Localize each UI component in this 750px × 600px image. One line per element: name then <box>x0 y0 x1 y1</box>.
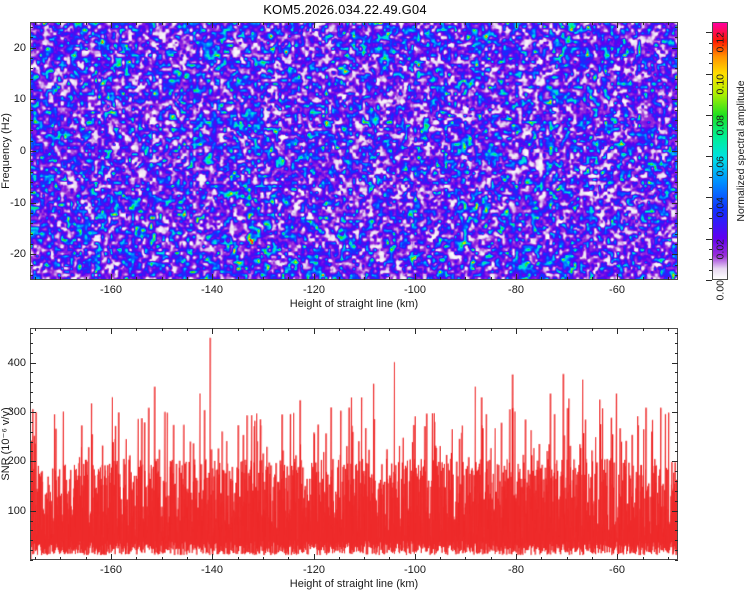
x-tick-minor <box>668 277 669 280</box>
x-tick-minor <box>35 277 36 280</box>
y-tick-major <box>30 363 36 364</box>
y-tick-minor-right <box>675 265 678 266</box>
spectrogram-x-axis-label: Height of straight line (km) <box>290 298 418 310</box>
x-tick-major-top <box>212 328 213 334</box>
x-tick-minor-top <box>339 328 340 331</box>
y-tick-minor <box>30 244 33 245</box>
x-tick-major <box>212 274 213 280</box>
y-tick-major-right <box>672 203 678 204</box>
y-tick-minor <box>30 540 33 541</box>
x-tick-minor <box>567 277 568 280</box>
x-tick-minor-top <box>567 328 568 331</box>
x-tick-minor <box>60 277 61 280</box>
y-tick-minor-right <box>675 343 678 344</box>
x-tick-minor-top <box>491 22 492 25</box>
y-tick-major-right <box>672 151 678 152</box>
x-tick-minor-top <box>465 328 466 331</box>
y-tick-minor <box>30 234 33 235</box>
x-tick-major-top <box>516 328 517 334</box>
colorbar-tick-major <box>706 156 712 157</box>
x-tick-minor-top <box>643 328 644 331</box>
y-tick-minor-right <box>675 540 678 541</box>
x-tick-major <box>415 274 416 280</box>
y-tick-minor <box>30 530 33 531</box>
y-tick-minor <box>30 392 33 393</box>
y-tick-minor <box>30 192 33 193</box>
y-tick-minor-right <box>675 182 678 183</box>
y-tick-minor-right <box>675 422 678 423</box>
x-tick-minor-top <box>541 22 542 25</box>
x-tick-minor <box>592 277 593 280</box>
y-tick-minor-right <box>675 530 678 531</box>
x-tick-minor <box>465 557 466 560</box>
colorbar-tick-label: 0.06 <box>714 156 726 176</box>
y-tick-minor-right <box>675 234 678 235</box>
x-tick-major <box>617 274 618 280</box>
y-tick-major <box>30 203 36 204</box>
x-tick-minor <box>364 277 365 280</box>
y-tick-minor <box>30 265 33 266</box>
colorbar-tick-major <box>706 32 712 33</box>
y-tick-minor-right <box>675 333 678 334</box>
y-tick-label: 20 <box>4 42 26 54</box>
colorbar-tick-minor <box>709 166 712 167</box>
y-tick-minor-right <box>675 120 678 121</box>
x-tick-minor <box>541 557 542 560</box>
colorbar-tick-minor <box>709 208 712 209</box>
y-tick-minor <box>30 521 33 522</box>
colorbar-tick-label: 0.12 <box>714 32 726 52</box>
x-tick-minor <box>60 557 61 560</box>
y-tick-minor-right <box>675 244 678 245</box>
x-tick-major <box>516 274 517 280</box>
y-tick-major-right <box>672 363 678 364</box>
y-tick-minor-right <box>675 451 678 452</box>
x-tick-label: -120 <box>303 284 325 296</box>
x-tick-minor <box>339 277 340 280</box>
colorbar-tick-minor <box>709 228 712 229</box>
x-tick-major-top <box>314 328 315 334</box>
y-tick-minor-right <box>675 172 678 173</box>
y-tick-minor-right <box>675 560 678 561</box>
x-tick-minor <box>238 277 239 280</box>
snr-y-axis-label: SNR (10⁻⁶ v/v) <box>0 407 12 480</box>
x-tick-minor <box>440 277 441 280</box>
y-tick-minor <box>30 68 33 69</box>
y-tick-label: 10 <box>4 93 26 105</box>
x-tick-minor <box>440 557 441 560</box>
x-tick-label: -140 <box>201 564 223 576</box>
x-tick-minor-top <box>339 22 340 25</box>
colorbar-tick-minor <box>709 187 712 188</box>
x-tick-minor-top <box>35 328 36 331</box>
y-tick-major <box>30 461 36 462</box>
y-tick-major <box>30 151 36 152</box>
x-tick-minor-top <box>592 328 593 331</box>
y-tick-major-right <box>672 511 678 512</box>
x-tick-label: -80 <box>508 284 524 296</box>
x-tick-major-top <box>212 22 213 28</box>
y-tick-minor <box>30 550 33 551</box>
y-tick-minor-right <box>675 382 678 383</box>
x-tick-minor <box>491 557 492 560</box>
y-tick-minor-right <box>675 58 678 59</box>
x-tick-minor <box>643 557 644 560</box>
x-tick-minor <box>592 557 593 560</box>
y-tick-minor <box>30 161 33 162</box>
y-tick-minor <box>30 422 33 423</box>
y-tick-minor-right <box>675 442 678 443</box>
x-tick-label: -60 <box>609 564 625 576</box>
x-tick-minor-top <box>86 328 87 331</box>
y-tick-minor <box>30 213 33 214</box>
x-tick-minor-top <box>238 22 239 25</box>
x-tick-major-top <box>415 328 416 334</box>
y-tick-minor <box>30 491 33 492</box>
x-tick-minor-top <box>263 328 264 331</box>
x-tick-minor <box>465 277 466 280</box>
y-tick-label: 0 <box>4 145 26 157</box>
y-tick-minor-right <box>675 89 678 90</box>
y-tick-minor-right <box>675 161 678 162</box>
y-tick-minor-right <box>675 110 678 111</box>
colorbar-tick-minor <box>709 125 712 126</box>
y-tick-minor <box>30 37 33 38</box>
y-tick-major-right <box>672 461 678 462</box>
y-tick-minor-right <box>675 471 678 472</box>
x-tick-major <box>111 554 112 560</box>
colorbar-tick-minor <box>709 63 712 64</box>
x-tick-minor <box>389 277 390 280</box>
x-tick-major <box>314 274 315 280</box>
x-tick-minor <box>364 557 365 560</box>
y-tick-minor-right <box>675 130 678 131</box>
y-tick-minor-right <box>675 432 678 433</box>
x-tick-minor <box>263 557 264 560</box>
colorbar-tick-major <box>706 239 712 240</box>
y-tick-minor-right <box>675 27 678 28</box>
x-tick-minor-top <box>35 22 36 25</box>
x-tick-minor-top <box>592 22 593 25</box>
y-tick-minor <box>30 353 33 354</box>
y-tick-minor <box>30 481 33 482</box>
x-tick-minor <box>187 277 188 280</box>
x-tick-minor-top <box>668 328 669 331</box>
x-tick-minor-top <box>187 328 188 331</box>
y-tick-major-right <box>672 254 678 255</box>
colorbar-tick-minor <box>709 94 712 95</box>
y-tick-minor-right <box>675 37 678 38</box>
y-tick-minor-right <box>675 79 678 80</box>
y-tick-label: -20 <box>4 248 26 260</box>
colorbar-tick-label: 0.10 <box>714 74 726 94</box>
x-tick-minor-top <box>440 328 441 331</box>
colorbar-tick-minor <box>709 249 712 250</box>
x-tick-major-top <box>415 22 416 28</box>
x-tick-minor-top <box>162 328 163 331</box>
y-tick-minor-right <box>675 372 678 373</box>
colorbar-tick-label: 0.02 <box>714 239 726 259</box>
y-tick-minor <box>30 333 33 334</box>
page-title: KOM5.2026.034.22.49.G04 <box>0 2 690 17</box>
y-tick-major-right <box>672 99 678 100</box>
colorbar-tick-minor <box>709 218 712 219</box>
x-tick-minor <box>668 557 669 560</box>
x-tick-label: -160 <box>100 284 122 296</box>
x-tick-minor-top <box>491 328 492 331</box>
colorbar-tick-minor <box>709 53 712 54</box>
y-tick-minor <box>30 275 33 276</box>
x-tick-minor-top <box>389 22 390 25</box>
x-tick-minor-top <box>86 22 87 25</box>
x-tick-minor-top <box>643 22 644 25</box>
x-tick-minor-top <box>465 22 466 25</box>
y-tick-minor <box>30 130 33 131</box>
x-tick-minor-top <box>288 328 289 331</box>
colorbar-tick-major <box>706 197 712 198</box>
x-tick-minor <box>136 277 137 280</box>
y-tick-minor-right <box>675 491 678 492</box>
x-tick-minor <box>541 277 542 280</box>
y-tick-minor <box>30 501 33 502</box>
x-tick-minor <box>162 557 163 560</box>
x-tick-label: -80 <box>508 564 524 576</box>
y-tick-major <box>30 48 36 49</box>
x-tick-minor <box>567 557 568 560</box>
x-tick-major-top <box>314 22 315 28</box>
colorbar-tick-minor <box>709 177 712 178</box>
colorbar-tick-major <box>706 115 712 116</box>
y-tick-minor-right <box>675 275 678 276</box>
y-tick-major <box>30 511 36 512</box>
x-tick-major <box>516 554 517 560</box>
x-tick-major <box>617 554 618 560</box>
colorbar-tick-minor <box>709 259 712 260</box>
x-tick-minor <box>187 557 188 560</box>
colorbar-tick-minor <box>709 270 712 271</box>
y-tick-label: 400 <box>4 357 26 369</box>
colorbar-tick-minor <box>709 43 712 44</box>
snr-x-axis-label: Height of straight line (km) <box>290 578 418 590</box>
x-tick-minor-top <box>136 328 137 331</box>
y-tick-label: 200 <box>4 455 26 467</box>
colorbar-axis-label: Normalized spectral amplitude <box>735 80 747 221</box>
x-tick-major <box>111 274 112 280</box>
y-tick-minor <box>30 560 33 561</box>
x-tick-minor <box>86 277 87 280</box>
x-tick-minor-top <box>541 328 542 331</box>
y-tick-minor <box>30 343 33 344</box>
y-tick-major <box>30 412 36 413</box>
x-tick-major-top <box>111 22 112 28</box>
x-tick-minor-top <box>136 22 137 25</box>
x-tick-minor <box>238 557 239 560</box>
x-tick-minor-top <box>263 22 264 25</box>
colorbar-tick-label: 0.08 <box>714 115 726 135</box>
y-tick-minor-right <box>675 223 678 224</box>
colorbar-tick-minor <box>709 146 712 147</box>
x-tick-minor-top <box>364 328 365 331</box>
x-tick-minor <box>263 277 264 280</box>
y-tick-minor <box>30 471 33 472</box>
y-tick-minor <box>30 223 33 224</box>
colorbar-tick-major <box>706 74 712 75</box>
x-tick-minor-top <box>389 328 390 331</box>
colorbar-tick-label: 0.04 <box>714 197 726 217</box>
y-tick-major <box>30 254 36 255</box>
snr-trace <box>31 329 677 559</box>
colorbar-tick-minor <box>709 105 712 106</box>
y-tick-minor <box>30 58 33 59</box>
y-tick-minor-right <box>675 192 678 193</box>
x-tick-major <box>212 554 213 560</box>
colorbar-tick-major <box>706 280 712 281</box>
x-tick-major-top <box>516 22 517 28</box>
y-tick-minor-right <box>675 550 678 551</box>
y-tick-minor <box>30 89 33 90</box>
y-tick-minor <box>30 27 33 28</box>
x-tick-minor <box>288 557 289 560</box>
y-tick-minor-right <box>675 521 678 522</box>
x-tick-minor-top <box>364 22 365 25</box>
x-tick-minor-top <box>440 22 441 25</box>
x-tick-minor-top <box>60 22 61 25</box>
x-tick-major <box>415 554 416 560</box>
y-tick-minor-right <box>675 402 678 403</box>
y-tick-minor <box>30 372 33 373</box>
y-tick-minor-right <box>675 501 678 502</box>
x-tick-minor <box>288 277 289 280</box>
x-tick-minor <box>35 557 36 560</box>
y-tick-minor <box>30 432 33 433</box>
spectrogram-image <box>31 23 677 279</box>
x-tick-label: -100 <box>404 284 426 296</box>
x-tick-minor <box>162 277 163 280</box>
x-tick-major-top <box>111 328 112 334</box>
y-tick-major-right <box>672 412 678 413</box>
y-tick-minor <box>30 141 33 142</box>
y-tick-minor-right <box>675 353 678 354</box>
x-tick-minor <box>86 557 87 560</box>
y-tick-minor <box>30 110 33 111</box>
x-tick-minor-top <box>238 328 239 331</box>
x-tick-minor-top <box>288 22 289 25</box>
x-tick-major-top <box>617 328 618 334</box>
y-tick-minor-right <box>675 481 678 482</box>
x-tick-minor <box>389 557 390 560</box>
y-tick-minor <box>30 120 33 121</box>
x-tick-minor-top <box>162 22 163 25</box>
y-tick-major-right <box>672 48 678 49</box>
x-tick-label: -100 <box>404 564 426 576</box>
y-tick-minor-right <box>675 68 678 69</box>
x-tick-minor <box>136 557 137 560</box>
y-tick-label: 300 <box>4 406 26 418</box>
x-tick-label: -60 <box>609 284 625 296</box>
y-tick-minor <box>30 172 33 173</box>
x-tick-minor-top <box>60 328 61 331</box>
x-tick-minor <box>643 277 644 280</box>
x-tick-label: -120 <box>303 564 325 576</box>
y-tick-minor <box>30 382 33 383</box>
x-tick-minor <box>339 557 340 560</box>
y-tick-major <box>30 99 36 100</box>
y-tick-minor-right <box>675 213 678 214</box>
y-tick-label: 100 <box>4 505 26 517</box>
x-tick-minor-top <box>567 22 568 25</box>
figure-root: KOM5.2026.034.22.49.G04 Normalized spect… <box>0 0 750 600</box>
y-tick-minor-right <box>675 141 678 142</box>
x-tick-major-top <box>617 22 618 28</box>
x-tick-major <box>314 554 315 560</box>
y-tick-minor <box>30 442 33 443</box>
x-tick-label: -160 <box>100 564 122 576</box>
colorbar-tick-minor <box>709 136 712 137</box>
colorbar-tick-label: 0.00 <box>714 280 726 300</box>
y-tick-minor <box>30 451 33 452</box>
x-tick-label: -140 <box>201 284 223 296</box>
snr-panel <box>30 328 678 560</box>
spectrogram-panel <box>30 22 678 280</box>
y-tick-minor <box>30 182 33 183</box>
y-tick-minor <box>30 402 33 403</box>
x-tick-minor-top <box>668 22 669 25</box>
x-tick-minor <box>491 277 492 280</box>
colorbar-tick-minor <box>709 84 712 85</box>
x-tick-minor-top <box>187 22 188 25</box>
y-tick-minor-right <box>675 392 678 393</box>
y-tick-minor <box>30 79 33 80</box>
y-tick-label: -10 <box>4 197 26 209</box>
